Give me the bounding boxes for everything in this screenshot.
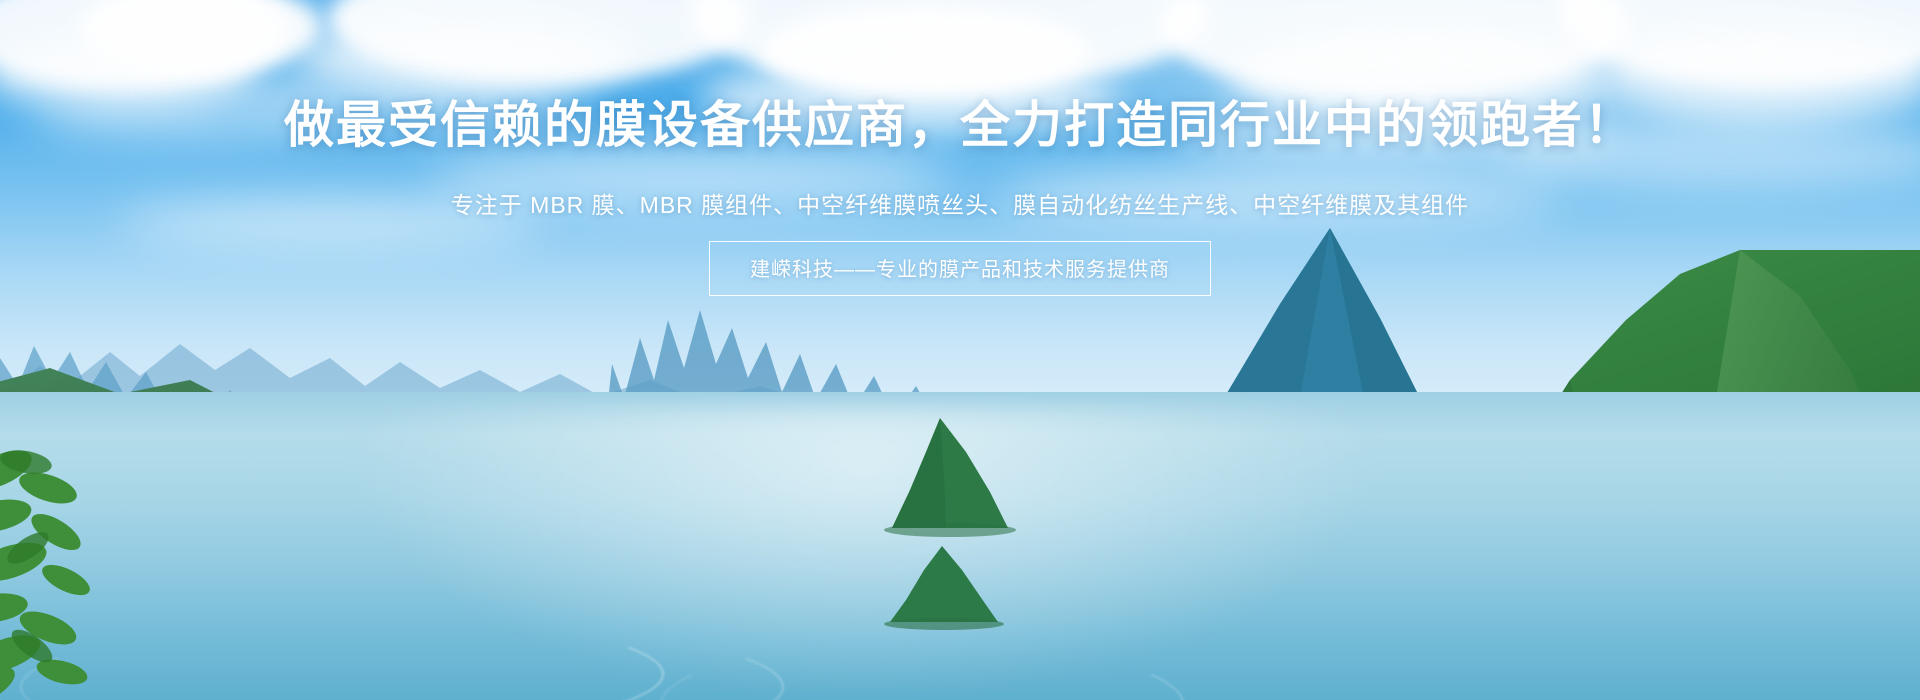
island-small bbox=[880, 540, 1010, 630]
banner-tagline-box[interactable]: 建嵘科技——专业的膜产品和技术服务提供商 bbox=[709, 241, 1211, 296]
hero-banner: 做最受信赖的膜设备供应商，全力打造同行业中的领跑者！ 专注于 MBR 膜、MBR… bbox=[0, 0, 1920, 700]
foreground-foliage bbox=[0, 440, 180, 700]
island-center bbox=[880, 418, 1020, 538]
